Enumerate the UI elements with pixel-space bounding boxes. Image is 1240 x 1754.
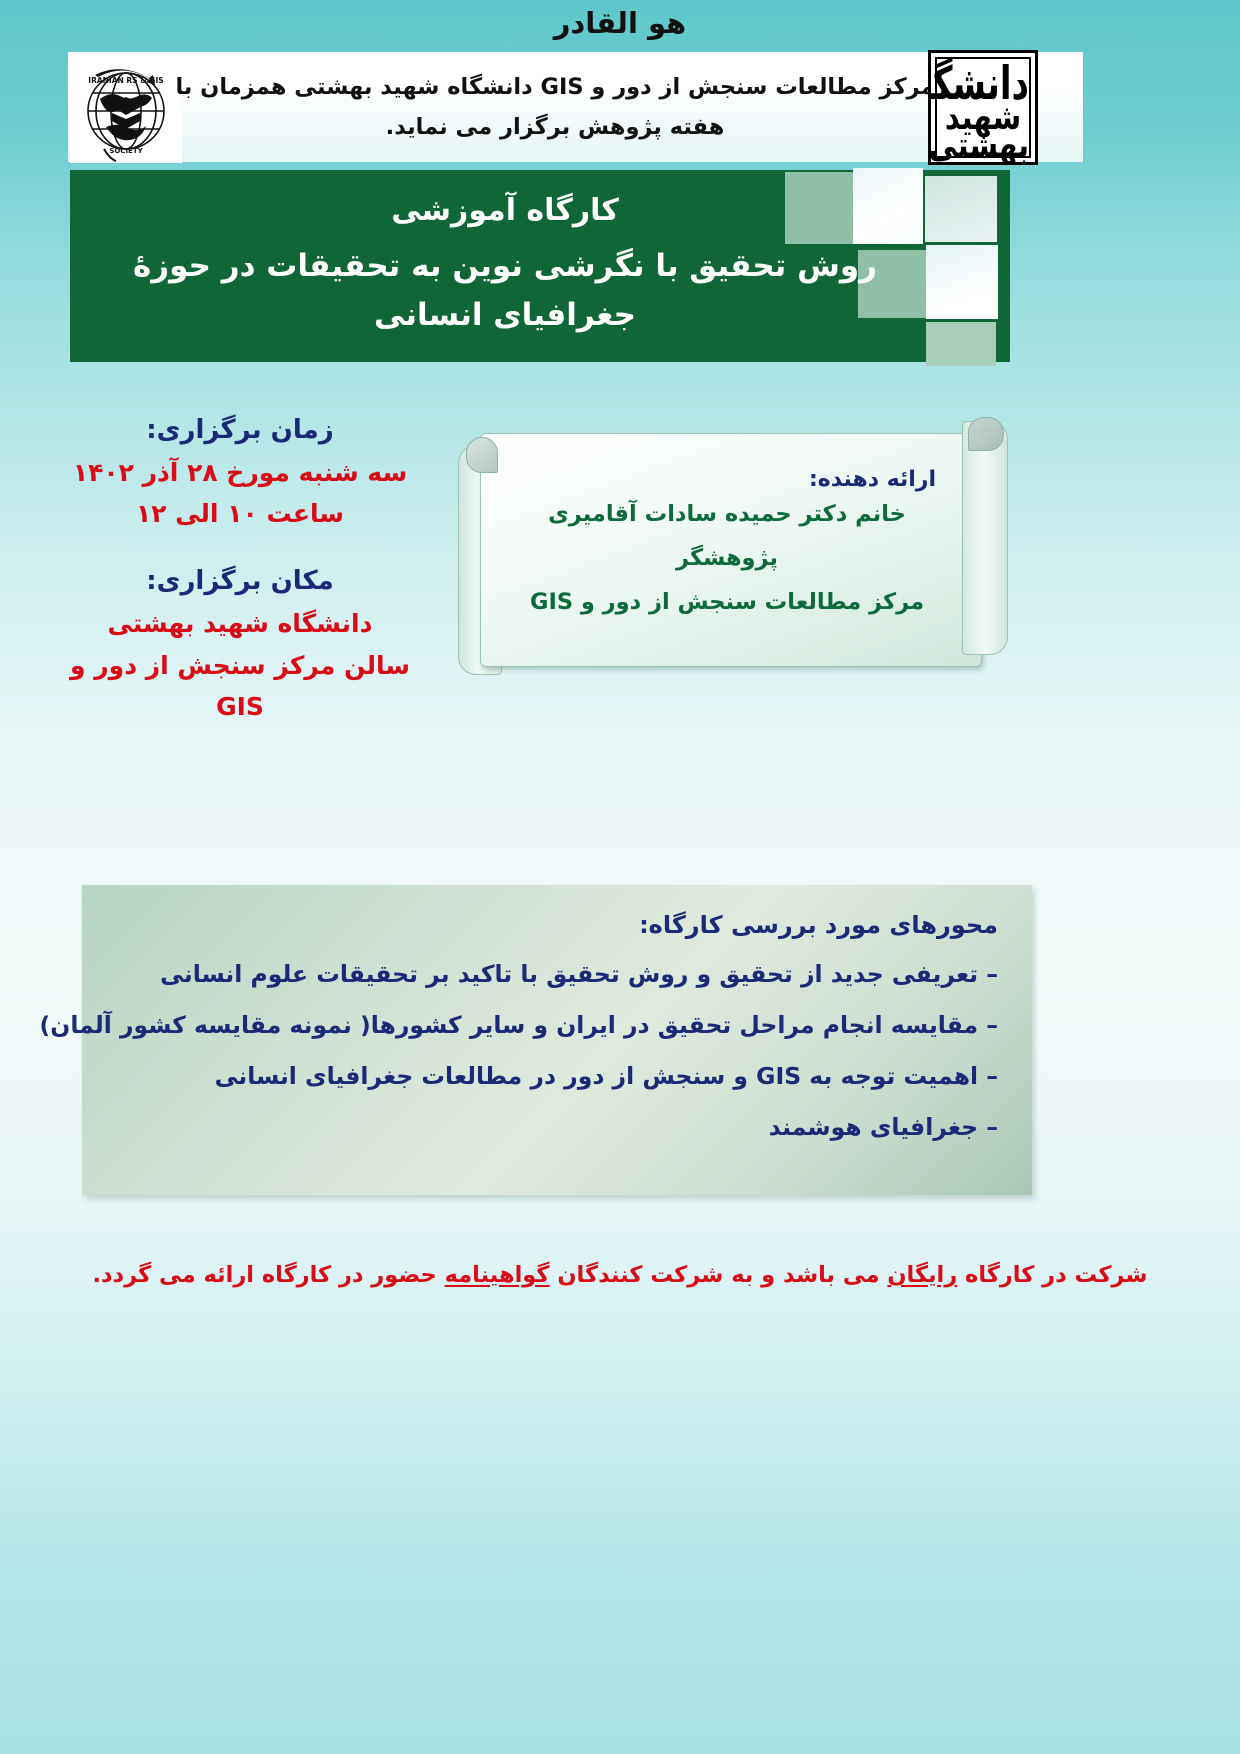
footer-part-3: حضور در کارگاه ارائه می گردد. [92, 1262, 444, 1288]
place-label: مکان برگزاری: [60, 560, 420, 603]
footer-part-1: شرکت در کارگاه [957, 1262, 1147, 1288]
poster-canvas: هو القادر IRANIAN RS & GIS SOCIETY مرکز … [0, 0, 1240, 1754]
header-line-1: مرکز مطالعات سنجش از دور و GIS دانشگاه ش… [175, 68, 934, 107]
footer-highlight-certificate: گواهینامه [445, 1262, 550, 1288]
topic-item-1: – تعریفی جدید از تحقیق و روش تحقیق با تا… [82, 957, 998, 991]
shahid-beheshti-university-logo: دانشگاه شهید بهشتی [928, 50, 1038, 165]
iranian-rs-gis-society-logo: IRANIAN RS & GIS SOCIETY [70, 53, 182, 163]
topics-content: محورهای مورد بررسی کارگاه: – تعریفی جدید… [82, 885, 998, 1195]
presenter-label: ارائه دهنده: [492, 467, 962, 492]
scroll-knob-right [968, 417, 1004, 451]
svg-text:IRANIAN RS & GIS: IRANIAN RS & GIS [88, 76, 163, 85]
header-line-2: هفته پژوهش برگزار می نماید. [386, 108, 725, 147]
workshop-title-line-1: روش تحقیق با نگرشی نوین به تحقیقات در حو… [133, 242, 877, 290]
scroll-roll-right [962, 421, 1008, 655]
topic-item-4: – جغرافیای هوشمند [82, 1110, 998, 1144]
topics-title: محورهای مورد بررسی کارگاه: [82, 911, 998, 939]
date-value: سه شنبه مورخ ۲۸ آذر ۱۴۰۲ [60, 452, 420, 493]
hours-value: ساعت ۱۰ الی ۱۲ [60, 493, 420, 534]
footer-part-2: می باشد و به شرکت کنندگان [550, 1262, 888, 1288]
topics-box: محورهای مورد بررسی کارگاه: – تعریفی جدید… [82, 885, 1032, 1195]
presenter-role: پژوهشگر [492, 537, 962, 581]
event-info-column: زمان برگزاری: سه شنبه مورخ ۲۸ آذر ۱۴۰۲ س… [60, 405, 420, 727]
footer-highlight-free: رایگان [887, 1262, 957, 1288]
presenter-info: ارائه دهنده: خانم دکتر حمیده سادات آقامی… [492, 467, 962, 625]
svg-text:SOCIETY: SOCIETY [109, 147, 143, 155]
time-label: زمان برگزاری: [60, 409, 420, 452]
workshop-kicker: کارگاه آموزشی [391, 193, 619, 228]
place-value-hall: سالن مرکز سنجش از دور و GIS [60, 645, 420, 728]
presenter-scroll: ارائه دهنده: خانم دکتر حمیده سادات آقامی… [452, 415, 1012, 677]
topic-item-3: – اهمیت توجه به GIS و سنجش از دور در مطا… [82, 1059, 998, 1093]
workshop-title-line-2: جغرافیای انسانی [374, 291, 636, 339]
footer-note: شرکت در کارگاه رایگان می باشد و به شرکت … [0, 1262, 1240, 1288]
header-announcement: مرکز مطالعات سنجش از دور و GIS دانشگاه ش… [190, 55, 920, 160]
workshop-title-block: کارگاه آموزشی روش تحقیق با نگرشی نوین به… [70, 170, 940, 362]
topic-item-2: – مقایسه انجام مراحل تحقیق در ایران و سا… [82, 1008, 998, 1042]
logo-word-beheshti: بهشتی [937, 128, 1029, 163]
presenter-affiliation: مرکز مطالعات سنجش از دور و GIS [492, 581, 962, 625]
invocation-text: هو القادر [0, 6, 1240, 40]
info-spacer [60, 534, 420, 556]
logo-border-inner: دانشگاه شهید بهشتی [935, 57, 1031, 158]
place-value-university: دانشگاه شهید بهشتی [60, 603, 420, 644]
presenter-name: خانم دکتر حمیده سادات آقامیری [492, 493, 962, 537]
